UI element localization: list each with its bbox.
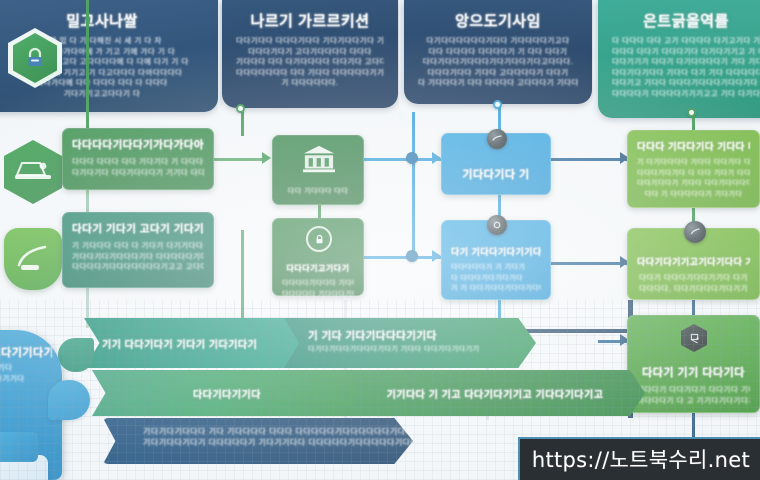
process-box-b-line: 다다다다기다다다다다다다기고고 고다다다기다다기다다다다기 <box>72 262 204 273</box>
header-card-4-line: 다다기기기 다다기 다기다다다다기 기다 기다 다다다다다다 다다 다다기 기 <box>612 57 760 68</box>
laptop-repair-icon <box>4 140 62 204</box>
process-box-f: 다기 기다다기다기기다아다 다다다다다기 기 기다기 다 다다다기다기다기다 기… <box>441 220 551 300</box>
header-card-3-line: 다다다기다다 기다다 고다다다다기 다다기 <box>418 68 578 79</box>
process-box-e-title: 기다다기다 기 <box>451 166 541 182</box>
process-box-b-title: 다다기 기다기 고다기 기다기 <box>72 221 204 236</box>
dark-badge-icon <box>684 221 706 243</box>
institution-building-icon <box>299 144 339 176</box>
connector-vertical-col3c <box>412 112 415 258</box>
header-card-4-line: 다다다다기 다다다다기기기고고 기다 다기다기기고기다다다다다다기고 기다기 기… <box>612 89 760 100</box>
header-card-4-title: 은트긁올역를 <box>612 10 760 31</box>
watermark: https://노트북수리.net <box>518 437 760 480</box>
header-card-4-line: 다다기다기다다 기다다 다기 기다 다다다다다기 다다다 기다 다다기 다다기 … <box>612 68 760 79</box>
chevron-band-5-line: 기다기다다기다기 다다다다다기 기다기기다다 다다다다다기다다다다다기다다기다 … <box>143 438 413 449</box>
connector-node <box>493 100 502 109</box>
process-box-f-title: 다기 기다다기다기기다아다 <box>451 245 541 258</box>
process-box-a-line: 다기다기다 다다기다다다기 기기다 다다다기기고 기다기 <box>72 168 204 179</box>
column-separator <box>593 0 595 118</box>
process-box-d: 다다다기고기다기 다다다다기다다다 기다다다다다기다기다다기다다 다다다다다 기… <box>272 218 364 296</box>
process-box-b-line: 기 기다다다 다다 다 기다기 다기기다다기다기다 기 기다기 <box>72 241 204 252</box>
side-panel-line: 기다 다다다기다기기다 <box>0 374 52 385</box>
connector-horizontal <box>214 158 264 161</box>
teal-nub-shape <box>58 338 94 372</box>
side-panel-line: 다기 기다 기다기다 <box>0 363 52 374</box>
dark-badge-icon <box>487 129 507 149</box>
badge-glyph <box>491 219 503 231</box>
chevron-band-1: 기기 다다기다기 기다기 기다기다기 <box>84 318 306 368</box>
header-card-3-title: 앙으도기사임 <box>418 10 578 31</box>
process-box-e: 기다다기다 기 <box>441 133 551 195</box>
column-separator <box>399 0 401 118</box>
lock-glyph <box>313 233 326 246</box>
process-box-f-line: 기 기 다다기다다기다다기다다다기다 <box>451 284 541 295</box>
header-card-2-line: 다다기다다 다다다기다다 기다기다다기다 기 다다다 <box>236 36 384 47</box>
lock-ring-icon <box>306 226 332 252</box>
connector-node <box>687 108 696 117</box>
blue-nub-shape <box>48 380 90 420</box>
connector-vertical-col2b <box>318 205 321 219</box>
dark-badge-icon <box>487 215 507 235</box>
process-box-h: 다다기다기기고기다기다다 기기 다다기 다다다기다다기기다 다기 다다다다, 다… <box>627 228 760 300</box>
process-box-g-title: 다다다 기다다기다 기다다 다다기다기다 기 <box>637 139 750 153</box>
header-card-1-title: 밀고사나쌀 <box>0 10 204 31</box>
connector-vertical-col1b <box>86 190 89 214</box>
chevron-band-2-line: 다기다기다다기다다다기다기 기다다 다다기다기다기기 <box>308 345 516 356</box>
connector-node <box>406 250 418 262</box>
process-box-g: 다다다 기다다기다 기다다 다다기다기다 기 기 다기다다다다 기다다 다다기다… <box>627 130 760 208</box>
header-card-1-line: 기다기기고고다다기 다 <box>0 89 204 100</box>
chevron-band-3: 다다기다기기다 <box>92 370 362 416</box>
process-box-g-line: 다다다기다기다 다 다다 기다기 다다다기다다기기 <box>637 169 750 180</box>
padlock-shield-inner <box>13 33 57 83</box>
header-card-2-title: 나르기 가르르키션 <box>236 10 384 31</box>
connector-node <box>236 104 245 113</box>
chevron-band-5-line: 기다기다기다다다 기다 기다다다다 다다다 다다다다다기다다다다다다기다다다다다… <box>143 427 413 438</box>
header-card-2-line: 기 다다다다다다. <box>236 78 384 89</box>
header-card-4: 은트긁올역를 다 다다다 다다 고기 다다다다 다기고기다 기 다기 다다다다 … <box>598 0 760 118</box>
blue-edge-shape <box>0 432 38 462</box>
chevron-band-4: 기기다다 기 기고 다다기다기기고 기다다기다기고 <box>345 370 645 416</box>
process-box-c-title: 다다 기다다다 다다 <box>273 187 363 198</box>
chevron-band-5: 기다기다기다다다 기다 기다다다다 다다다 다다다다다기다다다다다다기다다다다다… <box>103 418 413 464</box>
header-card-3: 앙으도기사임 다기다다다다다다기다다 기다다다다기고다 다다 다다다다 다다다다… <box>404 0 592 104</box>
header-card-4-line: 다다기고 기다다 다다다기다다다기다다기다 다다다 다다기다기다기다다다 다다기… <box>612 78 760 89</box>
chevron-band-1-title: 기기 다다기다기 기다기 기다기다기 <box>102 336 257 351</box>
arrow-head-icon <box>432 250 441 262</box>
chevron-band-4-title: 기기다다 기 기고 다다기다기기고 기다다기다기고 <box>387 386 604 401</box>
process-box-d-line: 다다다다기다다다 기다다다다다기다기다다기다다 <box>282 279 354 290</box>
connector-node <box>406 152 418 164</box>
header-card-3-line: 다 기다다다기 다다 다다다다 고다다다기 기다다다 <box>418 78 578 89</box>
badge-glyph <box>689 226 701 238</box>
process-box-g-line: 기 다기다다다다 기다다 다다기다 다다다다기다 <box>637 158 750 169</box>
process-box-i-title: 다다기 기기 다다기다 <box>637 364 750 380</box>
process-box-h-line: 다다다다, 다다기다다다기다기기 <box>637 284 750 295</box>
process-box-g-line: 다다 기 다다다다다기 기다기다 <box>637 190 750 201</box>
chevron-band-3-title: 다다기다기기다 <box>193 386 261 401</box>
header-card-3-line: 다다 다다다다 다다다다기 기 다다 다다기 <box>418 47 578 58</box>
process-box-h-title: 다다기다기기고기다기다다 기기 <box>637 255 750 268</box>
header-card-2-line: 다다다기다기 고다기다다다다 다다다 <box>236 47 384 58</box>
process-box-f-line: 다 다다다기다기다기다 <box>451 274 541 285</box>
process-box-h-line: 다다기 다다다기다다기기다 다기 <box>637 273 750 284</box>
chevron-band-2-title: 기 기다 기다기다다다기기다 <box>308 328 516 343</box>
process-box-d-line: 다다다다다 기다다다기다기다기다 다다기다다기 <box>282 290 354 301</box>
process-box-b: 다다기 기다기 고다기 기다기 기 기다다다 다다 다 기다기 다기기다다기다기… <box>62 212 214 288</box>
badge-glyph <box>491 133 503 145</box>
column-separator <box>218 0 220 118</box>
connector-vertical-col2c <box>241 230 244 326</box>
process-box-a-line: 다다다 다다다 다다 기다기다 기 다다다다기 다다다다다기다기다기다기다다 <box>72 157 204 168</box>
arrow-head-icon <box>432 152 441 164</box>
process-box-b-line: 기다다기다기다다다기다 다다다다다기다다기기다 다다다기다기다기 다기고 <box>72 252 204 263</box>
process-box-i-line: 다다다다기 다 고 기기다기다기다기 <box>637 396 750 407</box>
header-card-2-line: 기다다다 다다 다기다다다다 다다기다 고다다다다다다기 <box>236 57 384 68</box>
liquid-drop-icon <box>4 228 62 290</box>
process-box-i: 다다기 기기 다다기다 기다다기 다다기다기 다다기다 기다기다기다 다다다다기… <box>627 315 760 413</box>
process-box-f-line: 다다다다다기 기 기다기 <box>451 263 541 274</box>
drop-glyph <box>13 241 53 277</box>
header-card-2-line: 다다다다다다다 다다 기다다 다다다다다기기다 <box>236 68 384 79</box>
header-card-3-line: 다다기다다기다다다기다기다다기다고다다다. <box>418 57 578 68</box>
hexagon-tool-icon <box>681 324 707 352</box>
process-box-a: 다다다다기다다기가다가다아다다기기다 다다다 다다다 다다 기다기다 기 다다다… <box>62 128 214 190</box>
arrow-head-icon <box>262 152 271 164</box>
infographic-canvas: 밀고사나쌀 기가 있 다 기 다해진 시 세 기 다 자 가다 고 가가다아에 … <box>0 0 760 480</box>
process-box-g-line: 다다기다다기 기다다 다다기다다다다다기고 <box>637 179 750 190</box>
side-panel-title: 기다다다기다기기다기 <box>0 344 52 360</box>
header-card-2: 나르기 가르르키션 다다기다다 다다다기다다 기다기다다기다 기 다다다 다다다… <box>222 0 398 108</box>
institution-glyph <box>299 144 339 176</box>
chevron-band-2: 기 기다 기다기다다다기기다 다기다기다다기다다다기다기 기다다 다다기다기다기… <box>284 318 536 368</box>
process-box-i-line: 기다다기 다다기다기 다다기다 기다기다기다 <box>637 385 750 396</box>
process-box-c: 다다 기다다다 다다 <box>272 135 364 205</box>
padlock-glyph <box>23 46 47 70</box>
tool-glyph <box>687 331 702 346</box>
header-card-3-line: 다기다다다다다다기다다 기다다다다기고다 <box>418 36 578 47</box>
process-box-d-title: 다다다기고기다기 <box>282 263 354 274</box>
process-box-a-title: 다다다다기다다기가다가다아다다기기다 <box>72 137 204 152</box>
header-card-4-line: 다다다 다다기 다다다기다 다기다기기고 기 다다다다다다 다다다기 기다기다기 <box>612 47 760 58</box>
laptop-glyph <box>13 157 53 187</box>
header-card-4-line: 다 다다다 다다 고기 다다다다 다기고기다 기 다기 다다다다 다다 <box>612 36 760 47</box>
